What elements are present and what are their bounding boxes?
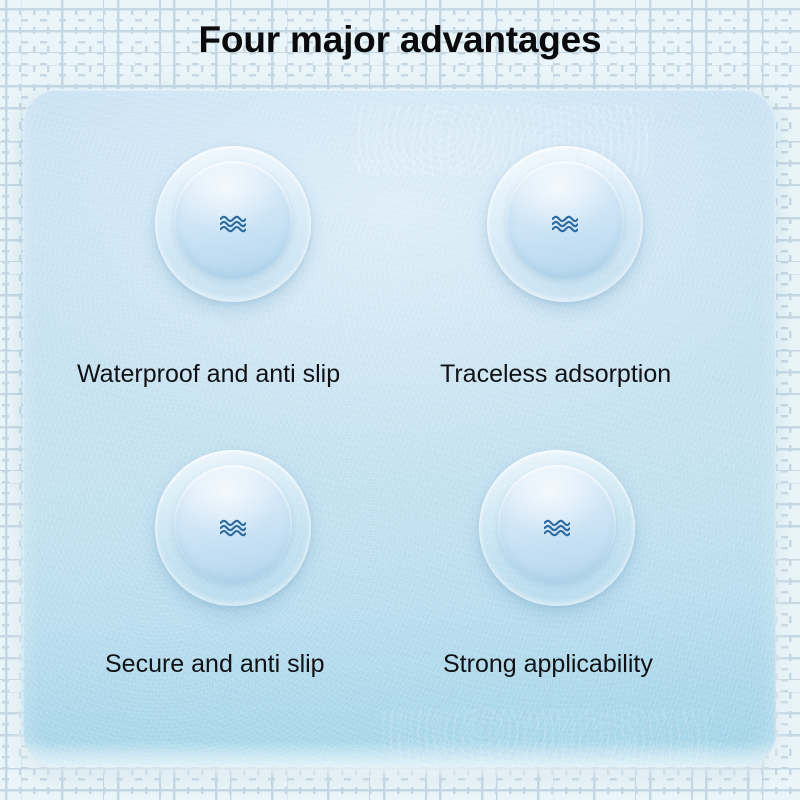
- advantages-poster: Four major advantages: [0, 0, 800, 800]
- suction-cup-traceless-adsorption[interactable]: [487, 146, 643, 302]
- wave-icon: [220, 216, 246, 233]
- feature-label-secure-and-anti-slip: Secure and anti slip: [105, 649, 325, 679]
- page-title: Four major advantages: [0, 16, 800, 64]
- feature-label-traceless-adsorption: Traceless adsorption: [440, 359, 671, 389]
- panel-bottom-rim-highlight: [23, 741, 776, 767]
- wave-icon: [552, 216, 578, 233]
- feature-label-waterproof-and-anti-slip: Waterproof and anti slip: [77, 359, 340, 389]
- water-splash-speckles-lower: [383, 709, 713, 763]
- wave-icon: [220, 520, 246, 537]
- wave-icon: [544, 520, 570, 537]
- feature-label-strong-applicability: Strong applicability: [443, 649, 653, 679]
- suction-cup-secure-and-anti-slip[interactable]: [155, 450, 311, 606]
- suction-cup-waterproof-and-anti-slip[interactable]: [155, 146, 311, 302]
- suction-cup-strong-applicability[interactable]: [479, 450, 635, 606]
